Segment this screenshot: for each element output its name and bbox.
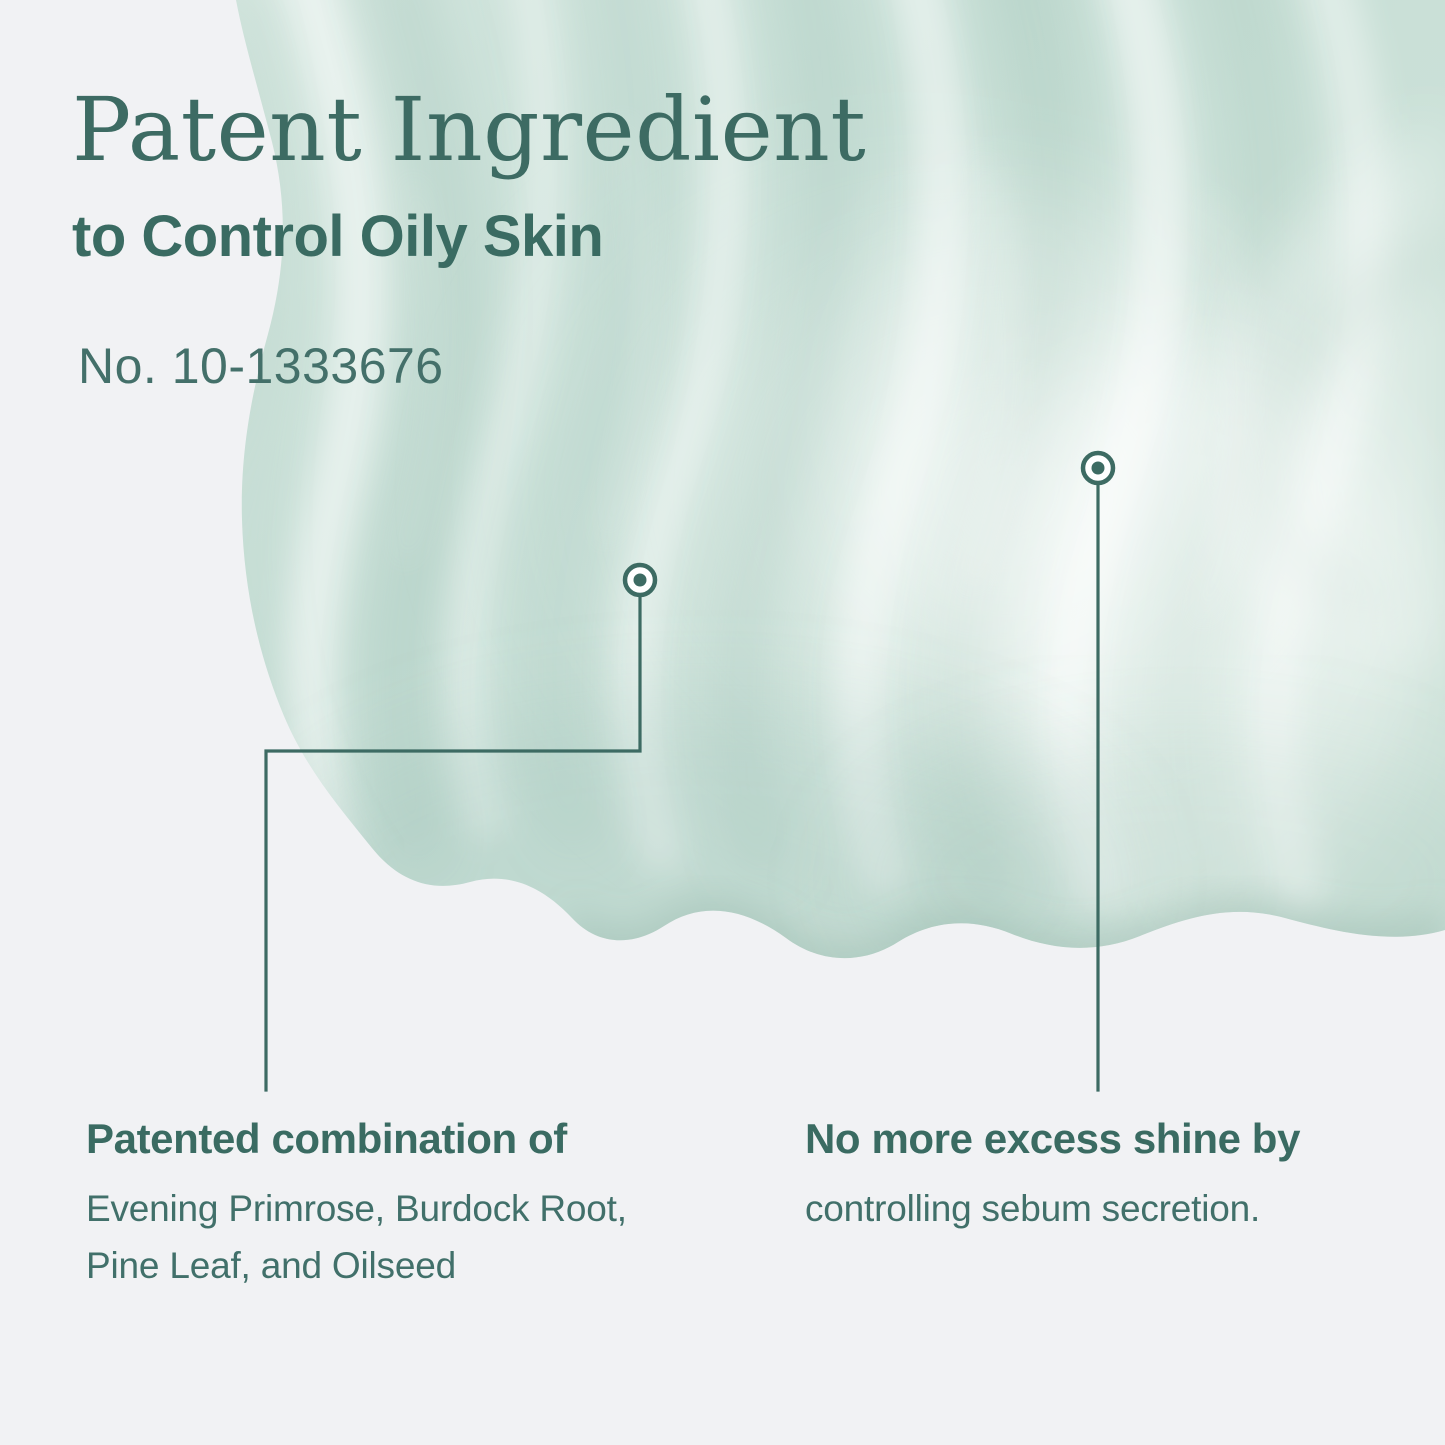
callout-marker-right-dot — [1092, 462, 1105, 475]
callout-marker-left-dot — [634, 574, 647, 587]
caption-right-body: controlling sebum secretion. — [805, 1180, 1405, 1237]
callout-right[interactable] — [1083, 453, 1113, 1090]
caption-left-body-line-2: Pine Leaf, and Oilseed — [86, 1237, 726, 1294]
infographic-page: Patent Ingredient to Control Oily Skin N… — [0, 0, 1445, 1445]
caption-right-body-line-1: controlling sebum secretion. — [805, 1180, 1405, 1237]
caption-left-title: Patented combination of — [86, 1118, 726, 1160]
caption-left-body-line-1: Evening Primrose, Burdock Root, — [86, 1180, 726, 1237]
caption-block-right: No more excess shine by controlling sebu… — [805, 1118, 1405, 1237]
callout-leader-line-left — [266, 595, 640, 1090]
caption-right-title: No more excess shine by — [805, 1118, 1405, 1160]
caption-block-left: Patented combination of Evening Primrose… — [86, 1118, 726, 1295]
callout-left[interactable] — [266, 565, 655, 1090]
caption-left-body: Evening Primrose, Burdock Root, Pine Lea… — [86, 1180, 726, 1295]
